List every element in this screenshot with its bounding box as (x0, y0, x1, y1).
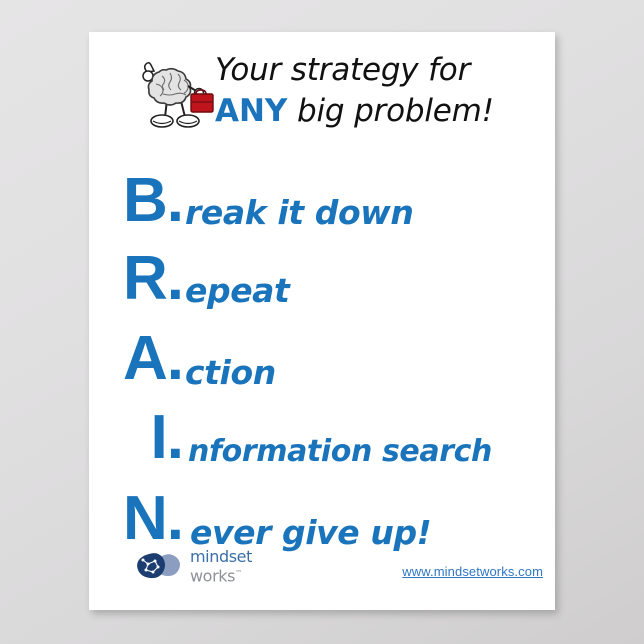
acronym-letter-b: B. (89, 170, 183, 232)
logo-word-mindset: mindset (190, 549, 252, 565)
mindset-works-wordmark: mindset works™ (190, 548, 252, 584)
poster: Your strategy for ANY big problem! B. re… (89, 32, 555, 610)
headline-line-2: ANY big problem! (215, 91, 555, 132)
headline-line-1: Your strategy for (215, 50, 555, 91)
mindset-works-brain-logo-icon (136, 551, 184, 581)
headline-emphasis: ANY (215, 93, 287, 129)
acronym-letter-a: A. (89, 328, 183, 390)
mindset-works-logo: mindset works™ (136, 548, 252, 584)
acronym-row-r: R. epeat (89, 227, 555, 310)
acronym-row-i: I. nformation search (89, 393, 555, 476)
logo-word-works: works™ (190, 565, 252, 584)
poster-header: Your strategy for ANY big problem! (89, 40, 555, 145)
poster-scene: Your strategy for ANY big problem! B. re… (0, 0, 644, 644)
acronym-phrase-i: nformation search (188, 435, 492, 468)
acronym-letter-r: R. (89, 248, 183, 310)
acronym-row-b: B. reak it down (89, 144, 555, 227)
brain-acronym-list: B. reak it down R. epeat A. ction I. nfo… (89, 144, 555, 559)
trademark-symbol: ™ (235, 569, 242, 577)
poster-headline: Your strategy for ANY big problem! (215, 50, 555, 132)
brain-character-with-briefcase-icon (136, 54, 222, 132)
headline-line-2-rest: big problem! (287, 93, 493, 129)
poster-footer: mindset works™ www.mindsetworks.com (89, 540, 555, 602)
website-url-link[interactable]: www.mindsetworks.com (402, 564, 543, 579)
acronym-letter-i: I. (89, 407, 183, 469)
acronym-phrase-b: reak it down (185, 196, 413, 229)
acronym-phrase-r: epeat (185, 274, 289, 307)
logo-word-works-text: works (190, 566, 235, 585)
acronym-phrase-a: ction (185, 356, 276, 389)
acronym-row-a: A. ction (89, 310, 555, 393)
